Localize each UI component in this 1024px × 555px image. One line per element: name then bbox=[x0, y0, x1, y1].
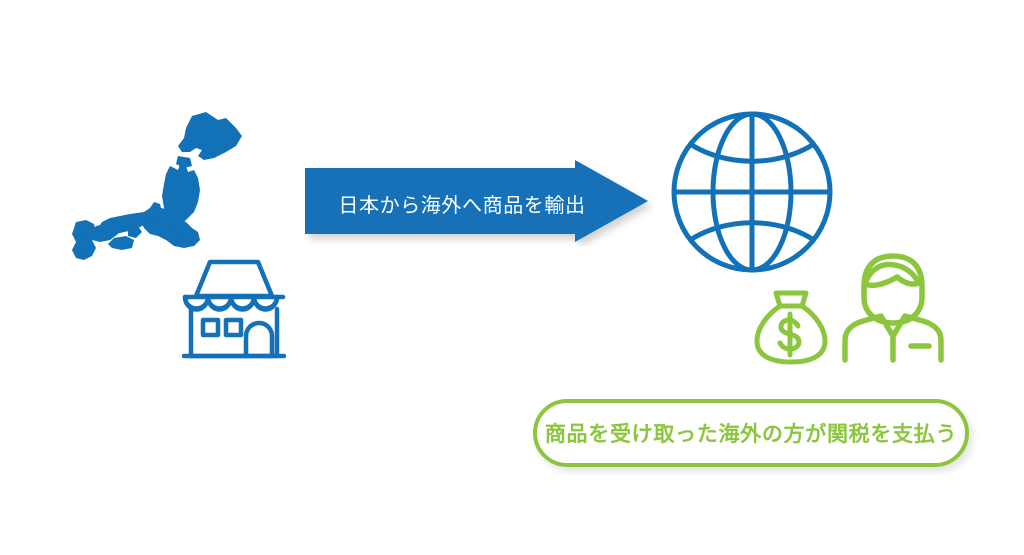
diagram-canvas: 日本から海外へ商品を輸出 bbox=[0, 0, 1024, 555]
japan-map-icon bbox=[66, 108, 252, 270]
export-arrow: 日本から海外へ商品を輸出 bbox=[303, 160, 653, 246]
tariff-callout-label: 商品を受け取った海外の方が関税を支払う bbox=[545, 418, 957, 448]
person-icon bbox=[841, 250, 945, 364]
tariff-callout-box: 商品を受け取った海外の方が関税を支払う bbox=[533, 399, 969, 467]
globe-icon bbox=[668, 108, 836, 276]
store-icon bbox=[174, 256, 294, 362]
money-bag-icon bbox=[753, 288, 829, 366]
